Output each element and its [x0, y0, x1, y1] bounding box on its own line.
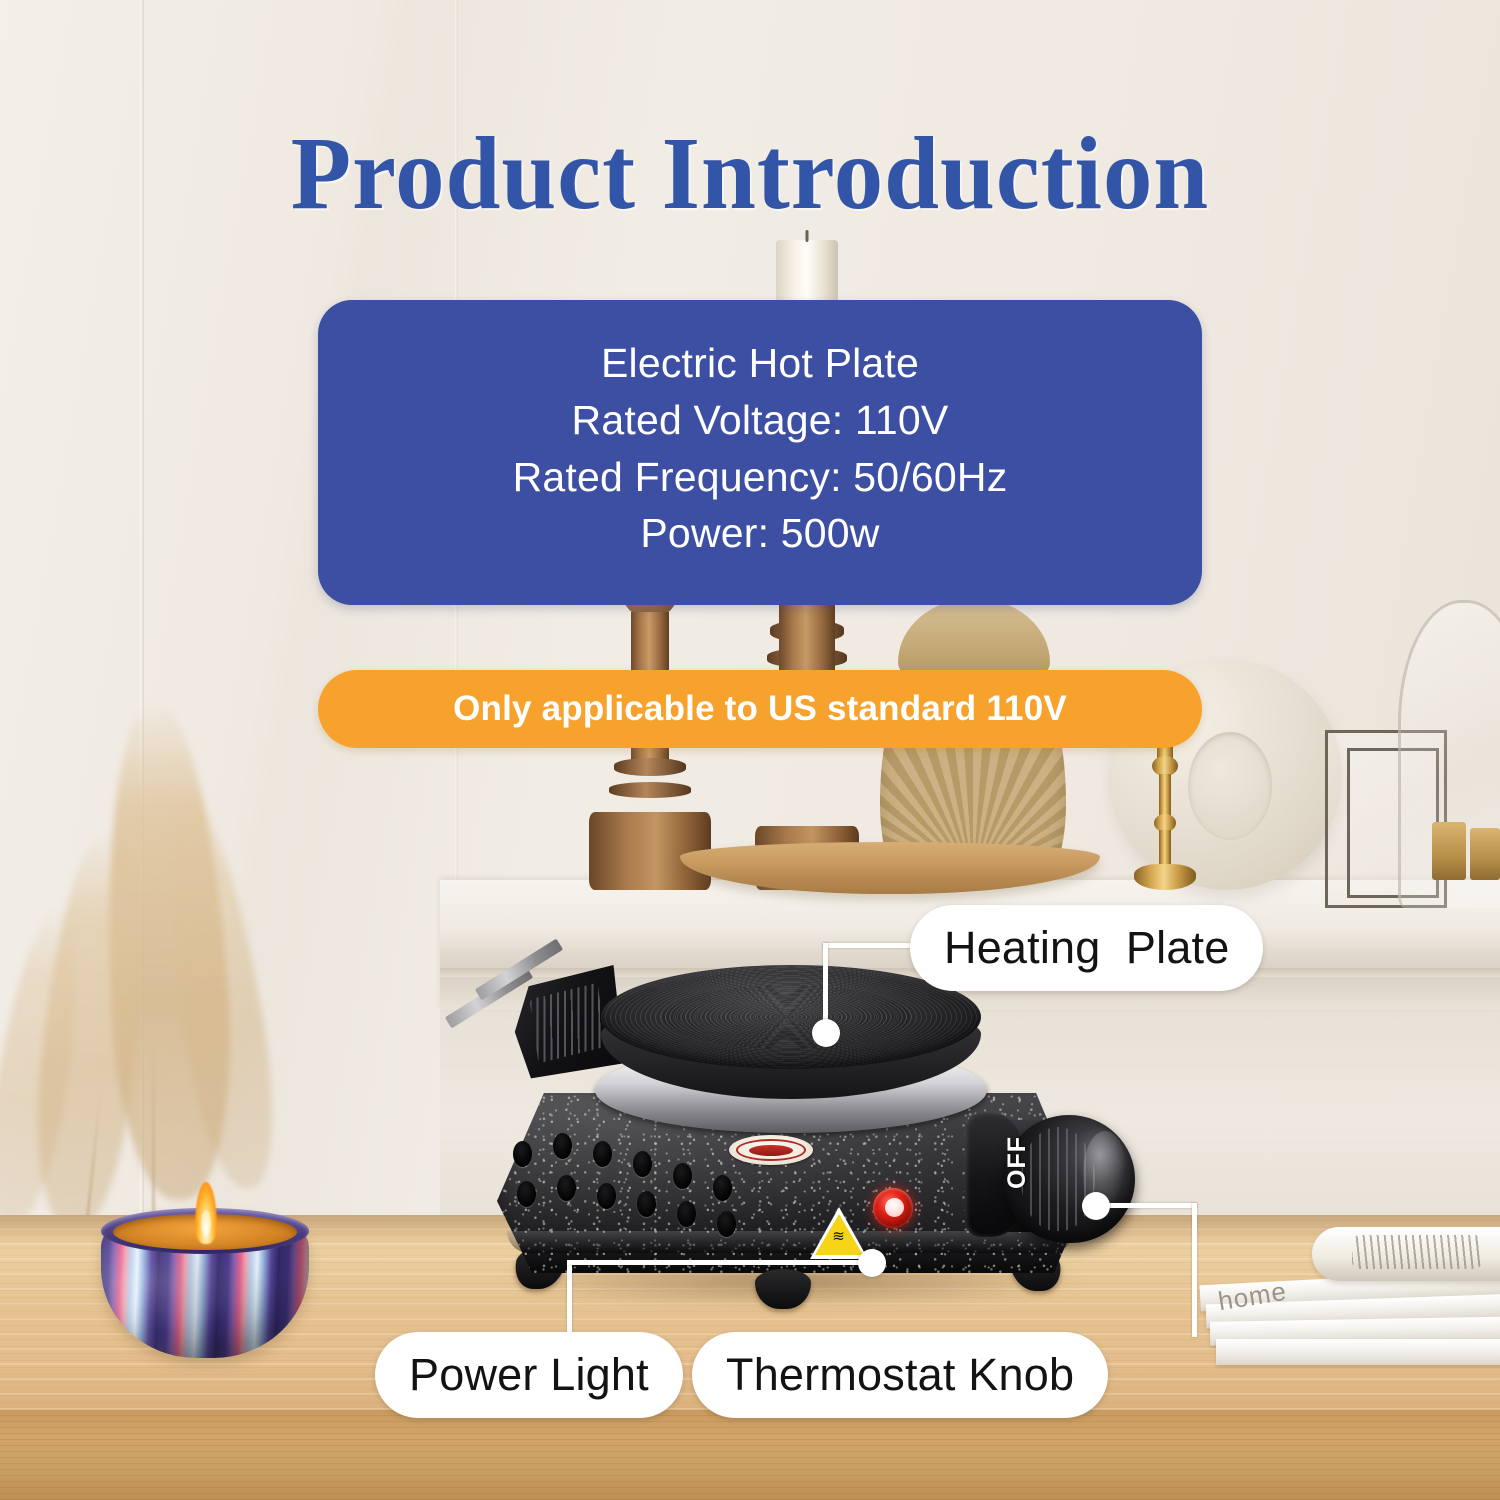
- ventilation-holes: [513, 1131, 763, 1227]
- spec-line-rated-voltage: Rated Voltage: 110V: [572, 392, 949, 449]
- callout-line-thermostat-knob: [1097, 1203, 1197, 1208]
- callout-label-power-light: Power Light: [375, 1332, 683, 1418]
- callout-line-heating-plate: [823, 943, 828, 1029]
- rolled-magazine: [1312, 1227, 1500, 1281]
- callout-dot-power-light: [858, 1249, 886, 1277]
- spec-line-product-name: Electric Hot Plate: [601, 335, 919, 392]
- wooden-table-edge: [0, 1410, 1500, 1500]
- callout-line-power-light: [567, 1260, 870, 1265]
- voltage-notice-banner: Only applicable to US standard 110V: [318, 670, 1202, 748]
- hot-surface-warning-icon: ≋: [810, 1207, 868, 1259]
- knob-off-label: OFF: [1003, 1136, 1032, 1189]
- callout-dot-heating-plate: [812, 1019, 840, 1047]
- product-spec-box: Electric Hot Plate Rated Voltage: 110V R…: [318, 300, 1202, 605]
- decorative-candle-tin: [95, 1188, 315, 1360]
- callout-text-power-light: Power Light: [409, 1349, 649, 1401]
- electric-hot-plate-product: OFF ≋: [455, 955, 1155, 1345]
- magazine-stack: home: [1200, 1225, 1500, 1395]
- callout-dot-thermostat-knob: [1082, 1192, 1110, 1220]
- callout-line-heating-plate: [823, 943, 915, 948]
- brass-ornament: [1470, 828, 1500, 880]
- us-power-plug: [437, 955, 617, 1085]
- brass-ornament: [1432, 822, 1466, 880]
- spec-line-rated-frequency: Rated Frequency: 50/60Hz: [513, 449, 1008, 506]
- callout-text-thermostat-knob: Thermostat Knob: [726, 1349, 1074, 1401]
- donut-vase-hole: [1188, 732, 1272, 840]
- heating-plate-inner-rings: [661, 985, 911, 1049]
- product-sticker-badge: [729, 1135, 813, 1165]
- magazine-sheet: [1216, 1339, 1500, 1365]
- page-title: Product Introduction: [38, 122, 1463, 226]
- spec-line-power: Power: 500w: [640, 505, 879, 562]
- power-indicator-light-core: [885, 1198, 904, 1217]
- callout-text-heating-plate: Heating Plate: [944, 922, 1229, 974]
- voltage-notice-text: Only applicable to US standard 110V: [453, 689, 1067, 729]
- callout-label-thermostat-knob: Thermostat Knob: [692, 1332, 1108, 1418]
- candle-flame-core: [201, 1210, 211, 1236]
- callout-label-heating-plate: Heating Plate: [910, 905, 1263, 991]
- callout-line-power-light: [567, 1260, 572, 1338]
- callout-line-thermostat-knob: [1192, 1203, 1197, 1337]
